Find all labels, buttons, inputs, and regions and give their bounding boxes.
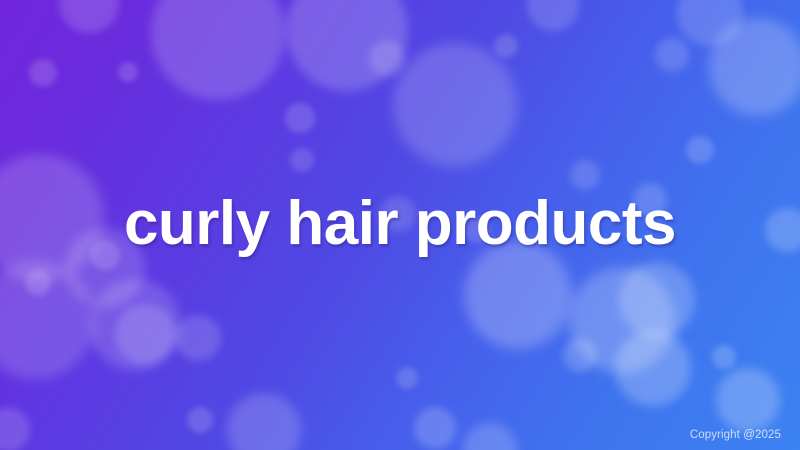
page-title: curly hair products: [124, 193, 676, 255]
title-container: curly hair products: [0, 0, 800, 450]
copyright-notice: Copyright @2025: [690, 430, 781, 442]
promo-banner: curly hair products Copyright @2025: [0, 0, 800, 450]
